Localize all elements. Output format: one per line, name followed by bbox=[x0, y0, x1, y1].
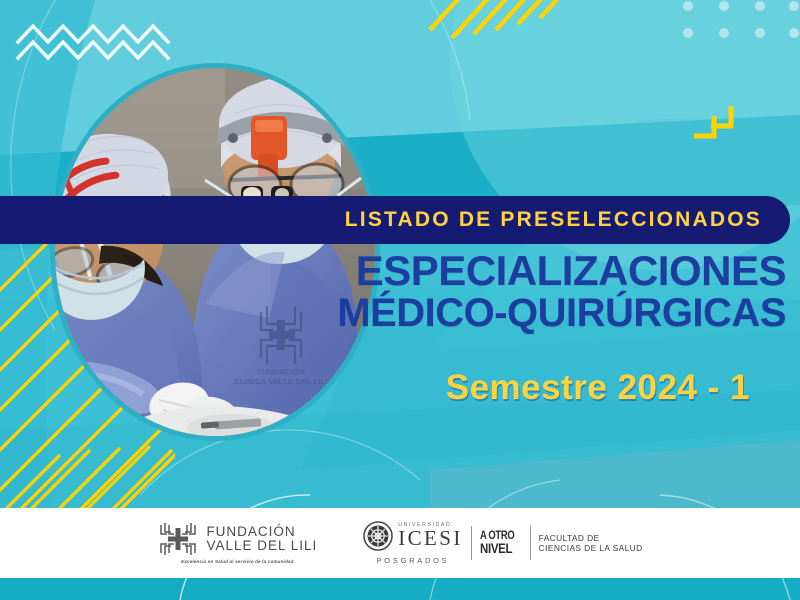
logo-divider-1 bbox=[471, 526, 472, 560]
fvl-emblem-icon bbox=[157, 522, 199, 556]
headline-line-2: MÉDICO-QUIRÚRGICAS bbox=[166, 293, 786, 334]
headline-block: ESPECIALIZACIONES MÉDICO-QUIRÚRGICAS bbox=[166, 250, 786, 334]
icesi-posgrados-label: POSGRADOS bbox=[377, 556, 450, 565]
svg-text:CLINICA VALLE DEL LILI: CLINICA VALLE DEL LILI bbox=[234, 377, 328, 386]
facultad-line-2: CIENCIAS DE LA SALUD bbox=[539, 543, 643, 554]
a-otro-nivel-lockup: A OTRO NIVEL bbox=[480, 531, 522, 554]
semester-label: Semestre 2024 - 1 bbox=[446, 368, 750, 408]
fvl-line-1: FUNDACIÓN bbox=[206, 525, 317, 539]
svg-text:FUNDACIÓN: FUNDACIÓN bbox=[257, 367, 305, 376]
logo-universidad-icesi: UNIVERSIDAD ICESI POSGRADOS A OTRO NIVEL… bbox=[363, 521, 642, 565]
icesi-name-label: ICESI bbox=[398, 528, 463, 549]
facultad-lockup: FACULTAD DE CIENCIAS DE LA SALUD bbox=[539, 533, 643, 554]
fvl-line-2: VALLE DEL LILI bbox=[206, 539, 317, 553]
nivel-line-2: NIVEL bbox=[480, 542, 514, 555]
icesi-seal-icon bbox=[363, 521, 393, 551]
fvl-tagline: Excelencia en Salud al servicio de la co… bbox=[181, 559, 294, 564]
logo-fundacion-valle-del-lili: FUNDACIÓN VALLE DEL LILI Excelencia en S… bbox=[157, 522, 317, 564]
footer-logo-bar: FUNDACIÓN VALLE DEL LILI Excelencia en S… bbox=[0, 508, 800, 578]
headline-line-1: ESPECIALIZACIONES bbox=[166, 250, 786, 293]
facultad-line-1: FACULTAD DE bbox=[539, 533, 643, 544]
poster-canvas: FUNDACIÓN CLINICA VALLE DEL LILI bbox=[0, 0, 800, 600]
logo-divider-2 bbox=[530, 526, 531, 560]
